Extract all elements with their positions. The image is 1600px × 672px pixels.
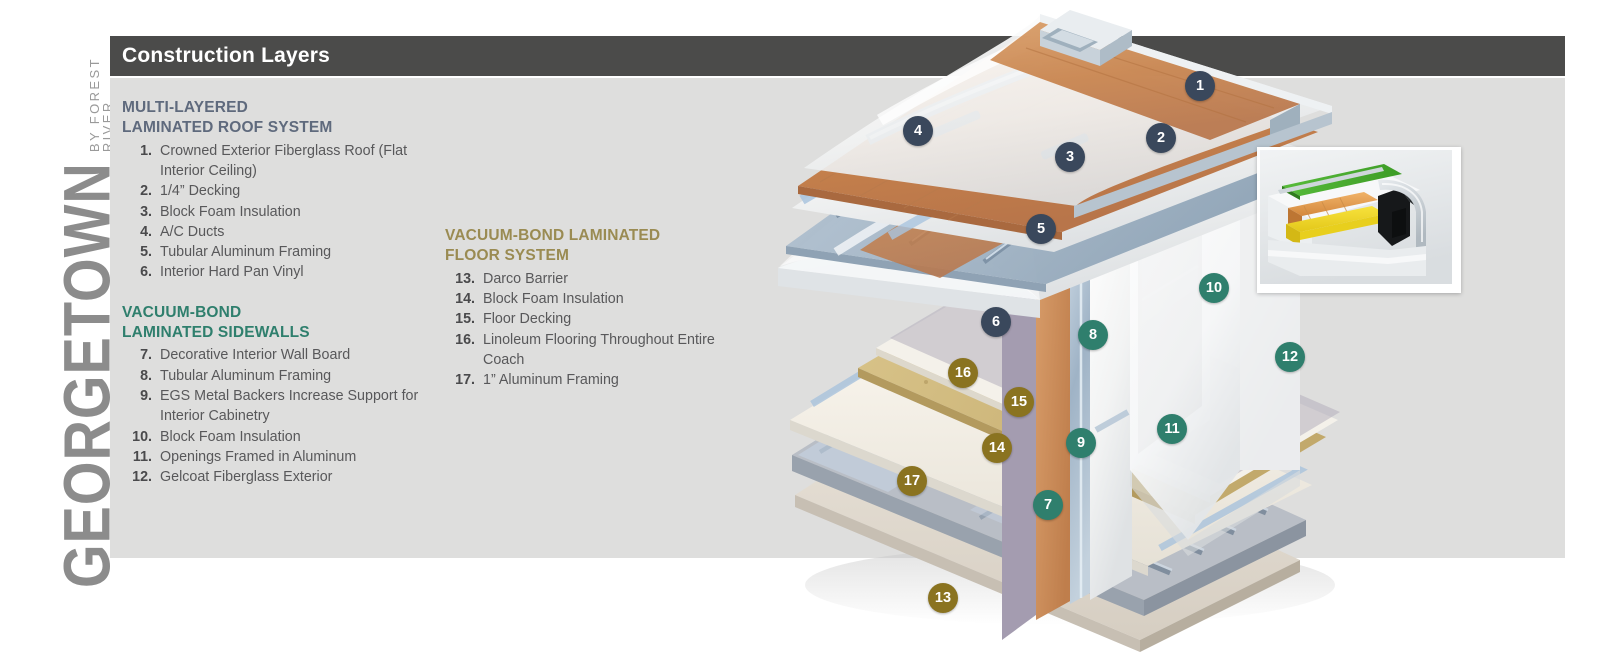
section-sidewalls: VACUUM-BOND LAMINATED SIDEWALLS 7. Decor… xyxy=(122,303,442,488)
callout-badge-6: 6 xyxy=(981,307,1011,337)
page-title: Construction Layers xyxy=(122,44,330,68)
list-item: 3. Block Foam Insulation xyxy=(122,202,442,222)
screenshot-root: GEORGETOWN BY FOREST RIVER Construction … xyxy=(0,0,1600,672)
callout-badge-8: 8 xyxy=(1078,320,1108,350)
list-item: 4. A/C Ducts xyxy=(122,222,442,242)
brand-logo: GEORGETOWN BY FOREST RIVER xyxy=(40,28,120,588)
list-item: 8. Tubular Aluminum Framing xyxy=(122,366,442,386)
list-item: 12. Gelcoat Fiberglass Exterior xyxy=(122,467,442,487)
section-roof-list: 1. Crowned Exterior Fiberglass Roof (Fla… xyxy=(122,141,442,283)
section-roof: MULTI-LAYERED LAMINATED ROOF SYSTEM 1. C… xyxy=(122,98,442,283)
roof-edge-detail-inset xyxy=(1257,147,1461,293)
legend-column-right: VACUUM-BOND LAMINATED FLOOR SYSTEM 13. D… xyxy=(445,226,745,390)
list-item: 13. Darco Barrier xyxy=(445,269,745,289)
section-floor-list: 13. Darco Barrier 14. Block Foam Insulat… xyxy=(445,269,745,391)
callout-badge-7: 7 xyxy=(1033,490,1063,520)
section-floor-heading: VACUUM-BOND LAMINATED FLOOR SYSTEM xyxy=(445,226,745,266)
section-sidewalls-list: 7. Decorative Interior Wall Board 8. Tub… xyxy=(122,345,442,487)
list-item: 9. EGS Metal Backers Increase Support fo… xyxy=(122,386,442,427)
section-floor: VACUUM-BOND LAMINATED FLOOR SYSTEM 13. D… xyxy=(445,226,745,390)
callout-badge-9: 9 xyxy=(1066,428,1096,458)
list-item: 16. Linoleum Flooring Throughout Entire … xyxy=(445,330,745,371)
list-item: 7. Decorative Interior Wall Board xyxy=(122,345,442,365)
list-item: 1. Crowned Exterior Fiberglass Roof (Fla… xyxy=(122,141,442,182)
list-item: 14. Block Foam Insulation xyxy=(445,289,745,309)
section-roof-heading: MULTI-LAYERED LAMINATED ROOF SYSTEM xyxy=(122,98,442,138)
rv-cutaway-illustration xyxy=(740,0,1600,672)
callout-badge-13: 13 xyxy=(928,583,958,613)
callout-badge-10: 10 xyxy=(1199,273,1229,303)
list-item: 11. Openings Framed in Aluminum xyxy=(122,447,442,467)
callout-badge-16: 16 xyxy=(948,358,978,388)
legend-column-left: MULTI-LAYERED LAMINATED ROOF SYSTEM 1. C… xyxy=(122,98,442,487)
callout-badge-2: 2 xyxy=(1146,123,1176,153)
list-item: 10. Block Foam Insulation xyxy=(122,427,442,447)
list-item: 2. 1/4” Decking xyxy=(122,181,442,201)
callout-badge-14: 14 xyxy=(982,433,1012,463)
list-item: 15. Floor Decking xyxy=(445,309,745,329)
list-item: 17. 1” Aluminum Framing xyxy=(445,370,745,390)
callout-badge-5: 5 xyxy=(1026,214,1056,244)
callout-badge-17: 17 xyxy=(897,466,927,496)
section-sidewalls-heading: VACUUM-BOND LAMINATED SIDEWALLS xyxy=(122,303,442,343)
callout-badge-4: 4 xyxy=(903,116,933,146)
callout-badge-12: 12 xyxy=(1275,342,1305,372)
callout-badge-1: 1 xyxy=(1185,71,1215,101)
section-spacer xyxy=(122,283,442,303)
callout-badge-15: 15 xyxy=(1004,387,1034,417)
callout-badge-11: 11 xyxy=(1157,414,1187,444)
list-item: 6. Interior Hard Pan Vinyl xyxy=(122,262,442,282)
list-item: 5. Tubular Aluminum Framing xyxy=(122,242,442,262)
callout-badge-3: 3 xyxy=(1055,142,1085,172)
